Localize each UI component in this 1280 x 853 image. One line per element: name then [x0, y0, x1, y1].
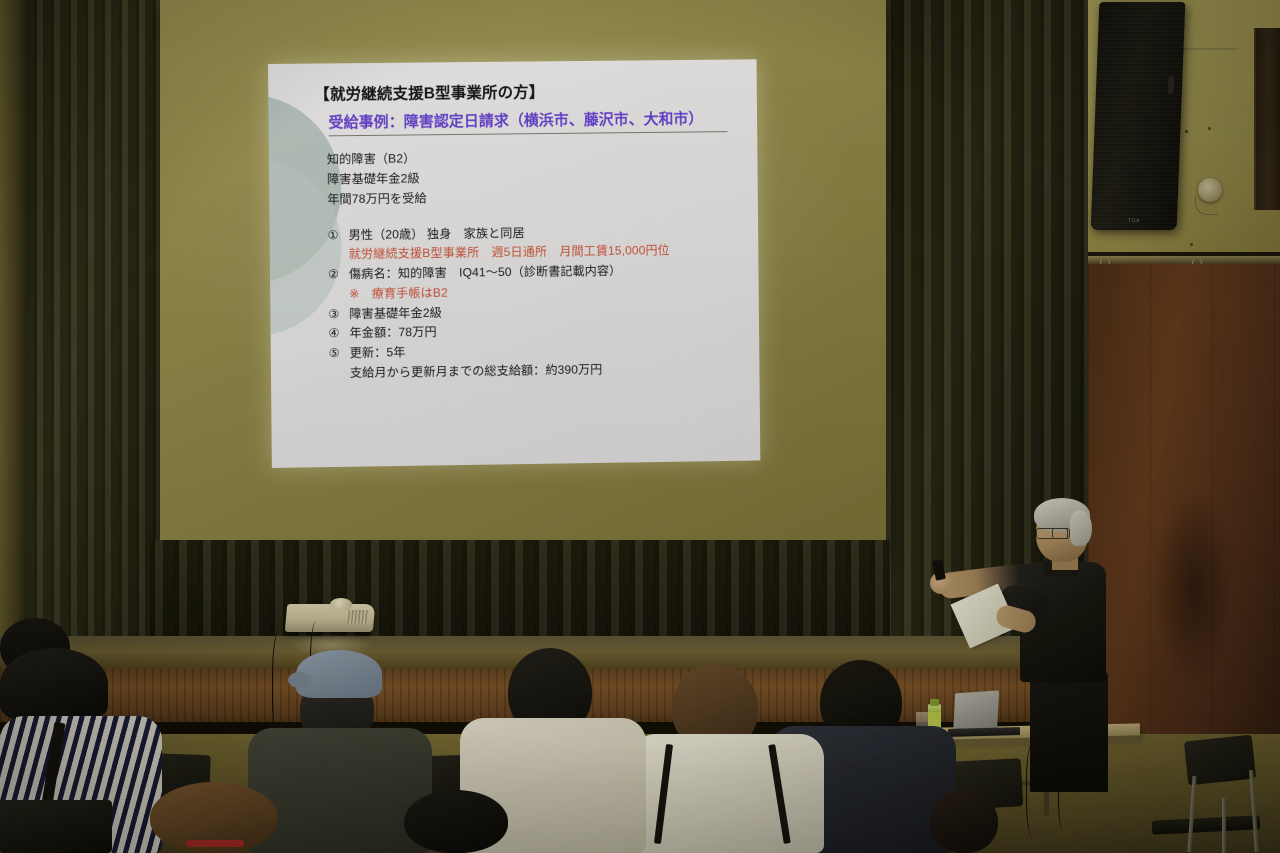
wall-panel-frame — [1254, 28, 1280, 210]
presenter-shadow — [1146, 476, 1242, 726]
speaker-brand-label: TOA — [1128, 218, 1140, 224]
audience-head — [404, 790, 508, 853]
speaker-port — [1168, 76, 1175, 94]
list-item-text: 障害基礎年金2級 — [349, 303, 442, 324]
slide-content: 【就労継続支援B型事業所の方】 受給事例：障害認定日請求（横浜市、藤沢市、大和市… — [268, 59, 760, 468]
black-cap — [0, 648, 108, 720]
audience-head — [930, 790, 998, 853]
audience-torso — [248, 728, 432, 853]
hair-tie — [186, 840, 244, 847]
presenter-hair-side — [1070, 510, 1092, 546]
list-item-number: ⑤ — [329, 344, 350, 364]
list-item-text: 更新：5年 — [350, 343, 406, 364]
list-item-text: 男性（20歳） 独身 家族と同居 — [348, 224, 524, 246]
wall-speaker: TOA — [1091, 2, 1186, 230]
list-item-text: 傷病名：知的障害 IQ41～50（診断書記載内容） — [349, 262, 621, 285]
list-item-number: ③ — [328, 305, 349, 325]
list-item-text: 年金額：78万円 — [349, 323, 436, 344]
seminar-photo: TOA 【就労継続支援B型事業所の方】 受給事例：障害認定日請求（横浜市、藤沢市… — [0, 0, 1280, 853]
bottle-cap — [930, 699, 939, 706]
slide-item-list: ① 男性（20歳） 独身 家族と同居 就労継続支援B型事業所 週5日通所 月間工… — [327, 221, 739, 384]
wall-fixture-cord — [1195, 196, 1218, 215]
slide-summary-block: 知的障害（B2） 障害基礎年金2級 年間78万円を受給 — [327, 146, 738, 210]
list-item-number: ④ — [328, 324, 349, 344]
slide-title: 【就労継続支援B型事業所の方】 — [314, 81, 737, 105]
bottle-label — [928, 712, 941, 726]
presentation-slide: 【就労継続支援B型事業所の方】 受給事例：障害認定日請求（横浜市、藤沢市、大和市… — [268, 59, 760, 468]
stage-curtain-left-edge — [0, 0, 26, 640]
wall-screw — [1185, 130, 1188, 133]
slide-subtitle: 受給事例：障害認定日請求（横浜市、藤沢市、大和市） — [328, 110, 737, 134]
list-item-number: ① — [327, 226, 348, 246]
list-item-subline: 支給月から更新月までの総支給額：約390万円 — [350, 358, 740, 383]
audience-bag — [0, 800, 112, 853]
wall-screw — [1190, 243, 1193, 246]
wall-screw — [1208, 127, 1211, 130]
speaker-grille — [1091, 2, 1186, 230]
cap-brim — [288, 672, 312, 688]
projector-vent — [347, 610, 368, 624]
presenter-glasses-icon — [1052, 528, 1070, 539]
chair-leg — [1222, 798, 1226, 853]
list-item-number: ② — [328, 265, 349, 285]
